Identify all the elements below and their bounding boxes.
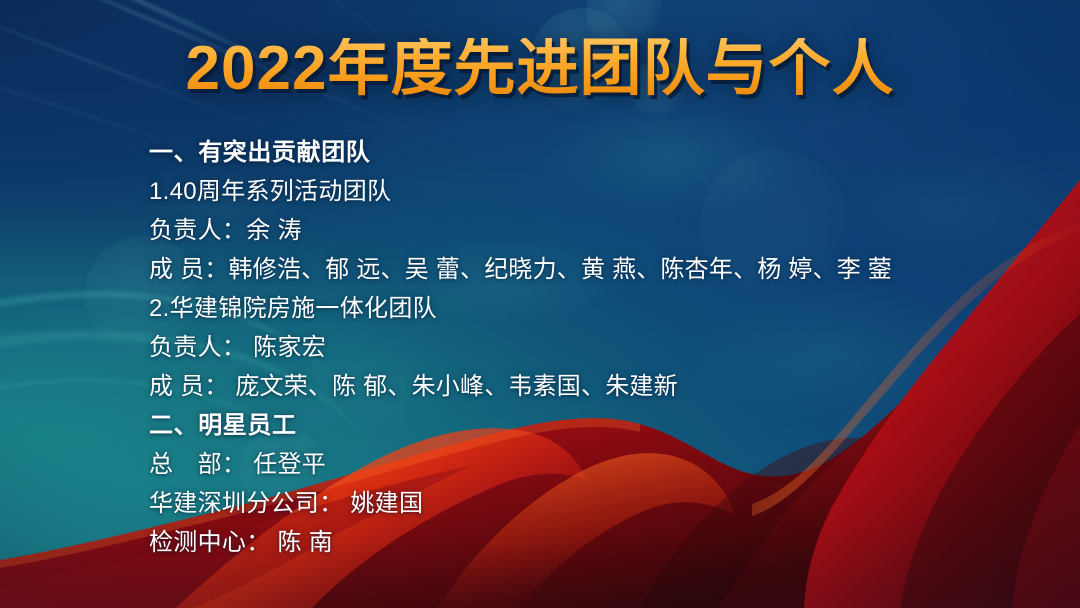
star-testing: 检测中心： 陈 南 <box>149 523 1029 562</box>
section-1-heading: 一、有突出贡献团队 <box>149 133 1029 172</box>
slide-content: 2022年度先进团队与个人 一、有突出贡献团队1.40周年系列活动团队负责人：余… <box>0 0 1080 608</box>
team-2-leader: 负责人： 陈家宏 <box>149 328 1029 367</box>
slide-body-list: 一、有突出贡献团队1.40周年系列活动团队负责人：余 涛成 员：韩修浩、郁 远、… <box>149 133 1029 562</box>
team-2-name: 2.华建锦院房施一体化团队 <box>149 289 1029 328</box>
presentation-slide: 2022年度先进团队与个人 一、有突出贡献团队1.40周年系列活动团队负责人：余… <box>0 0 1080 608</box>
section-2-heading: 二、明星员工 <box>149 406 1029 445</box>
star-hq: 总 部： 任登平 <box>149 445 1029 484</box>
team-2-members: 成 员： 庞文荣、陈 郁、朱小峰、韦素国、朱建新 <box>149 367 1029 406</box>
star-shenzhen: 华建深圳分公司： 姚建国 <box>149 484 1029 523</box>
slide-title: 2022年度先进团队与个人 <box>0 38 1080 100</box>
team-1-leader: 负责人：余 涛 <box>149 211 1029 250</box>
team-1-name: 1.40周年系列活动团队 <box>149 172 1029 211</box>
team-1-members: 成 员：韩修浩、郁 远、吴 蕾、纪晓力、黄 燕、陈杏年、杨 婷、李 蓥 <box>149 250 1029 289</box>
